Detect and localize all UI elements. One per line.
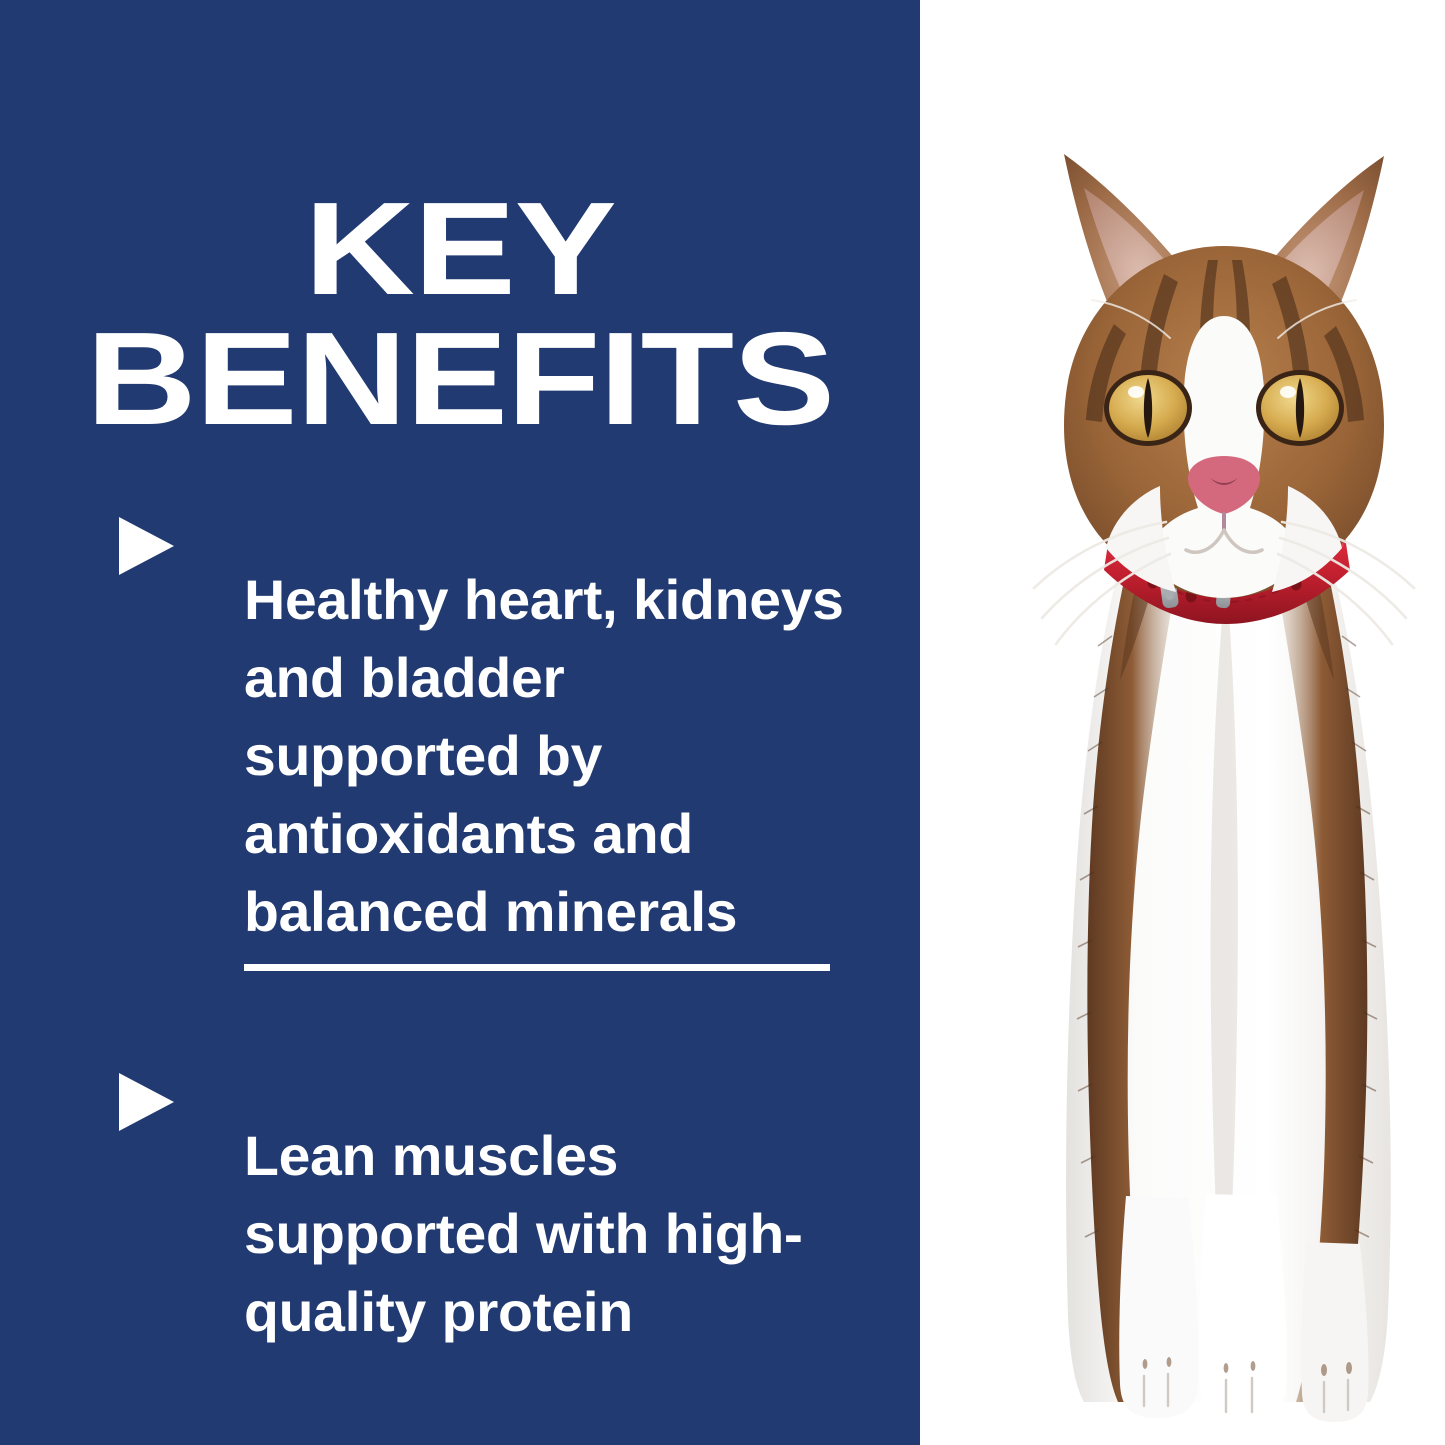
triangle-right-icon [119, 1073, 174, 1131]
page-title-line-1: KEY [0, 184, 994, 313]
benefit-item-2: Lean muscles supported with high-quality… [119, 1061, 919, 1407]
benefits-panel: KEY BENEFITS Healthy heart, kidneys and … [0, 0, 920, 1445]
cat-photo [960, 16, 1445, 1445]
benefit-item-2-text: Lean muscles supported with high-quality… [244, 1117, 856, 1351]
triangle-right-icon [119, 517, 174, 575]
benefits-divider [244, 964, 830, 971]
page-title: KEY BENEFITS [0, 184, 994, 443]
page-title-line-2: BENEFITS [0, 314, 994, 443]
benefit-item-1-text: Healthy heart, kidneys and bladder suppo… [244, 561, 856, 951]
cat-eye-right [1256, 370, 1344, 446]
benefit-item-1: Healthy heart, kidneys and bladder suppo… [119, 505, 919, 1007]
cat-eye-left [1104, 370, 1192, 446]
key-benefits-panel-page: KEY BENEFITS Healthy heart, kidneys and … [0, 0, 1445, 1445]
cat-illustration [960, 16, 1445, 1445]
